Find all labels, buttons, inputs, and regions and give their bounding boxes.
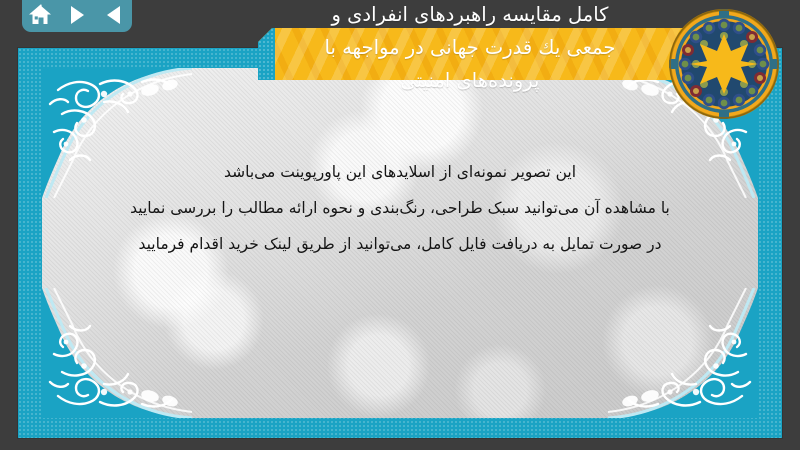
slide-viewer: کامل مقایسه راهبردهای انفرادی و جمعی یك …	[0, 0, 800, 450]
body-line-1: این تصویر نمونه‌ای از اسلایدهای این پاور…	[42, 154, 758, 190]
previous-triangle-icon	[105, 5, 123, 25]
ornamental-medallion	[668, 8, 780, 120]
home-button[interactable]	[27, 3, 53, 27]
next-triangle-icon	[68, 5, 86, 25]
banner-teal-cap	[258, 28, 275, 80]
title-banner	[258, 28, 720, 80]
navigation-bar	[22, 0, 132, 32]
slide-canvas: این تصویر نمونه‌ای از اسلایدهای این پاور…	[42, 68, 758, 418]
home-icon	[28, 4, 52, 26]
body-line-3: در صورت تمایل به دریافت فایل کامل، می‌تو…	[42, 226, 758, 262]
previous-button[interactable]	[101, 3, 127, 27]
title-line-1: کامل مقایسه راهبردهای انفرادی و	[260, 0, 680, 31]
chevron-pattern	[258, 28, 720, 80]
slide-body-text: این تصویر نمونه‌ای از اسلایدهای این پاور…	[42, 154, 758, 262]
next-button[interactable]	[64, 3, 90, 27]
body-line-2: با مشاهده آن می‌توانید سبک طراحی، رنگ‌بن…	[42, 190, 758, 226]
